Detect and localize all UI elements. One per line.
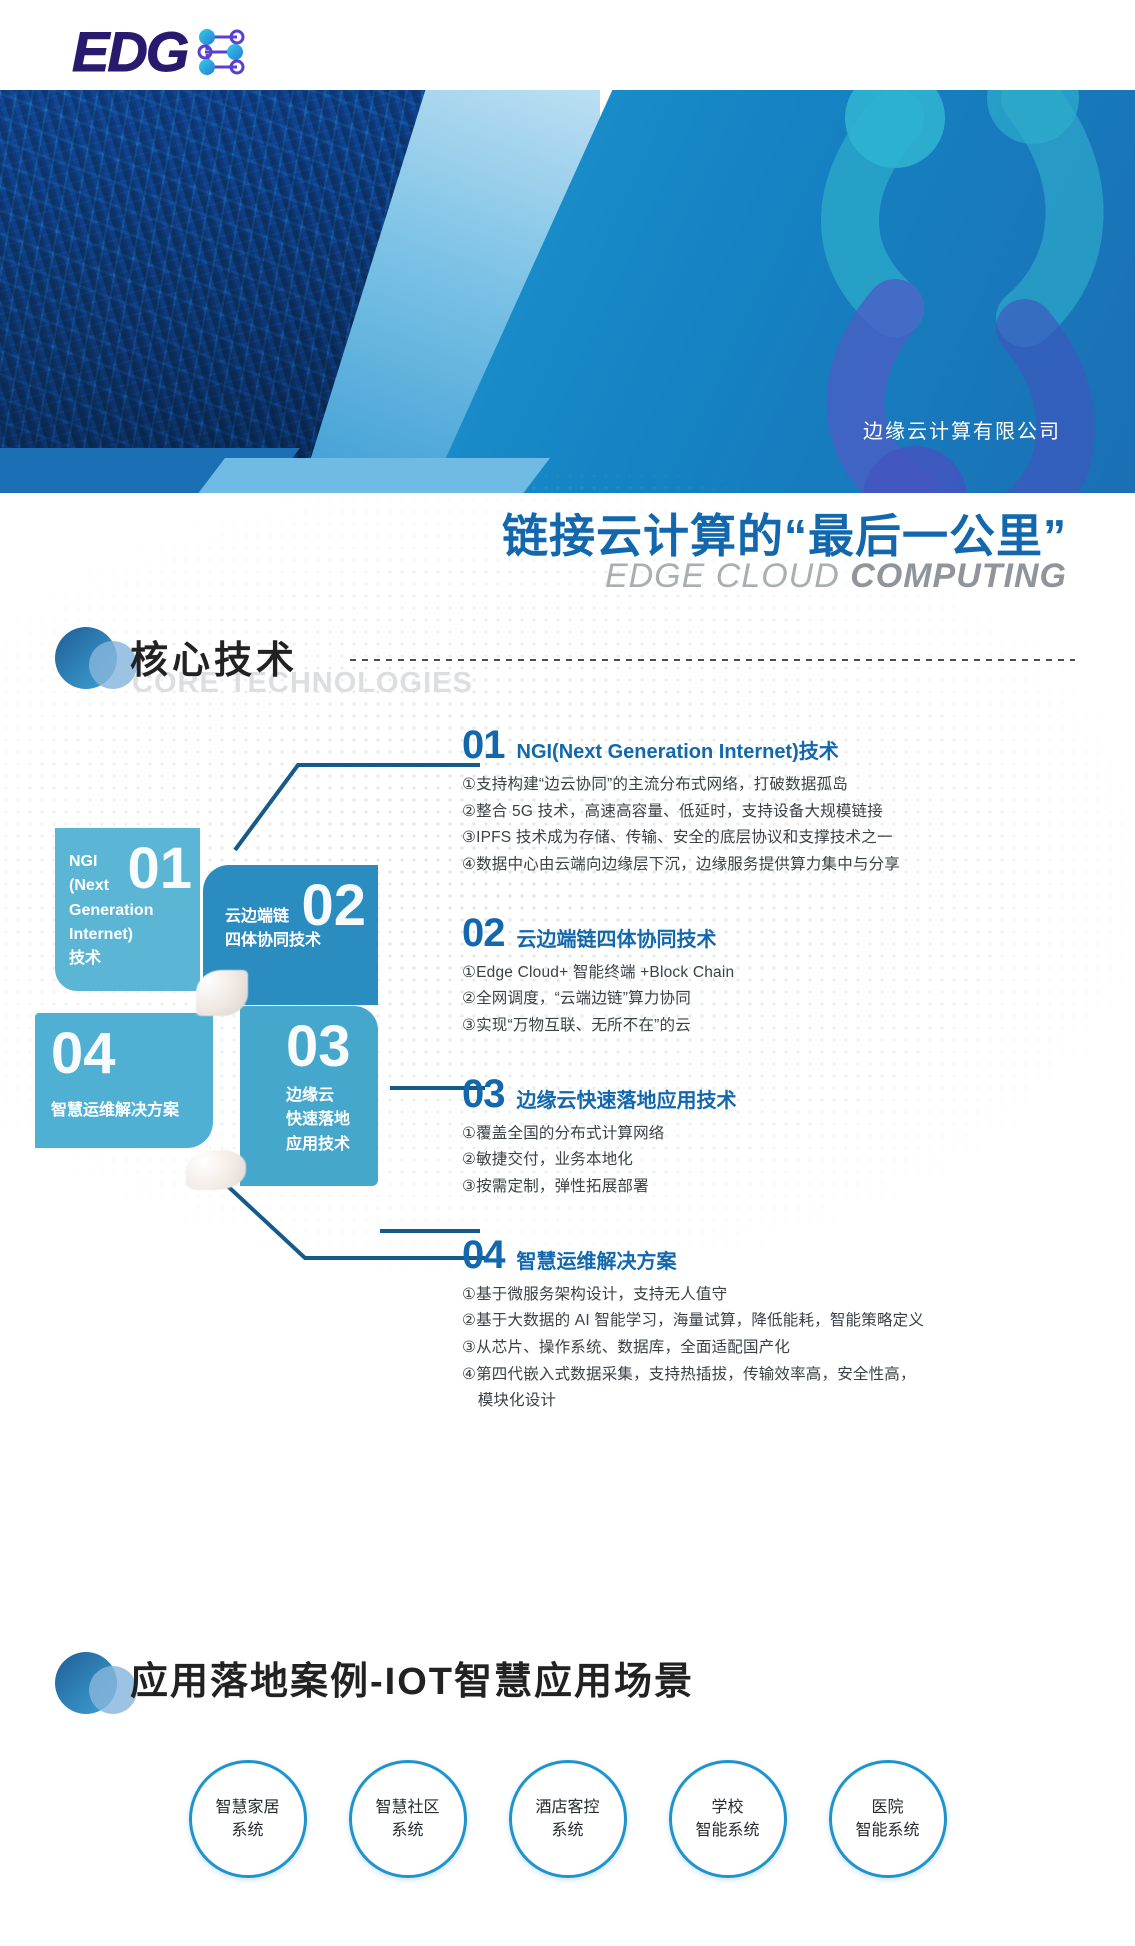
technology-items-list: 01 NGI(Next Generation Internet)技术 ①支持构建… xyxy=(462,725,1102,1441)
bullet: ①Edge Cloud+ 智能终端 +Block Chain xyxy=(462,960,1102,987)
tech-item-03-number: 03 xyxy=(462,1074,505,1114)
case-circles-row: 智慧家居 系统 智慧社区 系统 酒店客控 系统 学校 智能系统 医院 智能系统 xyxy=(0,1760,1135,1890)
logo-bar: EDG xyxy=(0,0,1135,90)
page-subtitle: EDGE CLOUD COMPUTING xyxy=(605,557,1067,596)
tech-item-04-lines: ①基于微服务架构设计，支持无人值守 ②基于大数据的 AI 智能学习，海量试算，降… xyxy=(462,1282,1102,1415)
bullet: ②敏捷交付，业务本地化 xyxy=(462,1147,1102,1174)
tech-item-01-lines: ①支持构建“边云协同”的主流分布式网络，打破数据孤岛 ②整合 5G 技术，高速高… xyxy=(462,772,1102,879)
case-circle-5[interactable]: 医院 智能系统 xyxy=(829,1760,947,1878)
tech-item-02-number: 02 xyxy=(462,913,505,953)
tech-item-02-title: 云边端链四体协同技术 xyxy=(517,923,717,952)
case-circle-5-line1: 医院 xyxy=(871,1796,903,1819)
tech-item-01-head: 01 NGI(Next Generation Internet)技术 xyxy=(462,725,1102,765)
case-circle-5-line2: 智能系统 xyxy=(855,1819,919,1842)
card-02-label: 云边端链四体协同技术 xyxy=(225,905,350,954)
company-name: 边缘云计算有限公司 xyxy=(863,415,1061,444)
case-circle-3-line2: 系统 xyxy=(551,1819,583,1842)
bullet: ③IPFS 技术成为存储、传输、安全的底层协议和支撑技术之一 xyxy=(462,825,1102,852)
bullet: ②基于大数据的 AI 智能学习，海量试算，降低能耗，智能策略定义 xyxy=(462,1308,1102,1335)
tech-item-04-number: 04 xyxy=(462,1235,505,1275)
bullet: ①支持构建“边云协同”的主流分布式网络，打破数据孤岛 xyxy=(462,772,1102,799)
tech-item-01-title: NGI(Next Generation Internet)技术 xyxy=(517,735,839,764)
card-04-number: 04 xyxy=(51,1025,116,1083)
tech-item-02-lines: ①Edge Cloud+ 智能终端 +Block Chain ②全网调度，“云端… xyxy=(462,960,1102,1040)
case-circle-1[interactable]: 智慧家居 系统 xyxy=(189,1760,307,1878)
bullet: ③按需定制，弹性拓展部署 xyxy=(462,1174,1102,1201)
case-circle-2-line2: 系统 xyxy=(391,1819,423,1842)
bullet: ④数据中心由云端向边缘层下沉，边缘服务提供算力集中与分享 xyxy=(462,852,1102,879)
section-title-cases: 应用落地案例-IOT智慧应用场景 xyxy=(130,1650,694,1705)
subtitle-light: EDGE CLOUD xyxy=(605,557,850,595)
tech-item-01: 01 NGI(Next Generation Internet)技术 ①支持构建… xyxy=(462,725,1102,879)
headline-block: 链接云计算的“最后一公里” EDGE CLOUD COMPUTING xyxy=(0,495,1135,605)
bullet: ③实现“万物互联、无所不在”的云 xyxy=(462,1013,1102,1040)
case-circle-1-line1: 智慧家居 xyxy=(215,1796,279,1819)
card-01-label: NGI(NextGenerationInternet)技术 xyxy=(69,850,189,972)
case-circle-4-line2: 智能系统 xyxy=(695,1819,759,1842)
tech-item-02: 02 云边端链四体协同技术 ①Edge Cloud+ 智能终端 +Block C… xyxy=(462,913,1102,1040)
card-01[interactable]: 01 NGI(NextGenerationInternet)技术 xyxy=(55,828,200,991)
case-circle-4[interactable]: 学校 智能系统 xyxy=(669,1760,787,1878)
section-header-core-technologies: CORE TECHNOLOGIES 核心技术 xyxy=(0,615,1135,715)
section-title-core: 核心技术 xyxy=(130,629,298,684)
bullet: 模块化设计 xyxy=(462,1388,1102,1415)
page-curl-decor-a xyxy=(196,970,248,1016)
technology-cards-graphic: 01 NGI(NextGenerationInternet)技术 02 云边端链… xyxy=(0,820,460,1200)
case-circle-4-line1: 学校 xyxy=(711,1796,743,1819)
subtitle-bold: COMPUTING xyxy=(850,557,1067,595)
card-03-number: 03 xyxy=(286,1018,351,1076)
section-dotted-rule xyxy=(350,659,1075,661)
bullet: ②全网调度，“云端边链”算力协同 xyxy=(462,986,1102,1013)
tech-item-04: 04 智慧运维解决方案 ①基于微服务架构设计，支持无人值守 ②基于大数据的 AI… xyxy=(462,1235,1102,1415)
page-curl-decor-b xyxy=(186,1150,246,1190)
card-04[interactable]: 04 智慧运维解决方案 xyxy=(35,1013,213,1148)
case-circle-2[interactable]: 智慧社区 系统 xyxy=(349,1760,467,1878)
tech-item-03-lines: ①覆盖全国的分布式计算网络 ②敏捷交付，业务本地化 ③按需定制，弹性拓展部署 xyxy=(462,1121,1102,1201)
tech-item-03: 03 边缘云快速落地应用技术 ①覆盖全国的分布式计算网络 ②敏捷交付，业务本地化… xyxy=(462,1074,1102,1201)
tech-item-01-number: 01 xyxy=(462,725,505,765)
tech-item-03-head: 03 边缘云快速落地应用技术 xyxy=(462,1074,1102,1114)
section-header-cases: 应用落地案例-IOT智慧应用场景 xyxy=(0,1640,1135,1730)
tech-item-02-head: 02 云边端链四体协同技术 xyxy=(462,913,1102,953)
case-circle-1-line2: 系统 xyxy=(231,1819,263,1842)
card-03-label: 边缘云快速落地应用技术 xyxy=(286,1084,381,1157)
bullet: ①基于微服务架构设计，支持无人值守 xyxy=(462,1282,1102,1309)
tech-item-04-head: 04 智慧运维解决方案 xyxy=(462,1235,1102,1275)
logo-wordmark: EDG xyxy=(72,24,187,80)
brand-logo[interactable]: EDG xyxy=(72,24,249,80)
card-03[interactable]: 03 边缘云快速落地应用技术 xyxy=(240,1006,378,1186)
tech-item-03-title: 边缘云快速落地应用技术 xyxy=(517,1084,737,1113)
case-circle-3[interactable]: 酒店客控 系统 xyxy=(509,1760,627,1878)
tech-item-04-title: 智慧运维解决方案 xyxy=(517,1245,677,1274)
network-nodes-icon xyxy=(193,26,249,78)
bullet: ①覆盖全国的分布式计算网络 xyxy=(462,1121,1102,1148)
bullet: ④第四代嵌入式数据采集，支持热插拔，传输效率高，安全性高， xyxy=(462,1362,1102,1389)
bullet: ②整合 5G 技术，高速高容量、低延时，支持设备大规模链接 xyxy=(462,799,1102,826)
card-04-label: 智慧运维解决方案 xyxy=(51,1099,216,1123)
case-circle-2-line1: 智慧社区 xyxy=(375,1796,439,1819)
case-circle-3-line1: 酒店客控 xyxy=(535,1796,599,1819)
bullet: ③从芯片、操作系统、数据库，全面适配国产化 xyxy=(462,1335,1102,1362)
